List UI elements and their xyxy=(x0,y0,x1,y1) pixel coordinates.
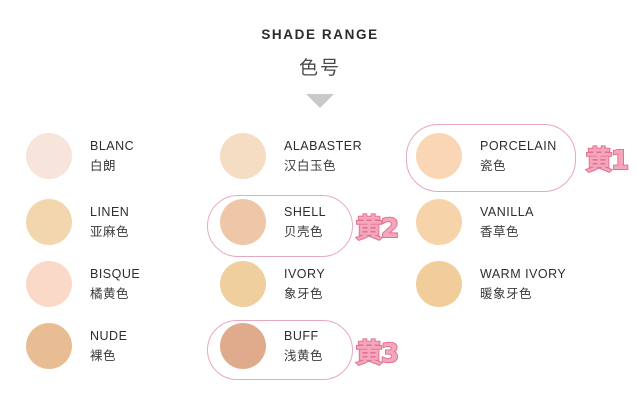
shade-labels: ALABASTER 汉白玉色 xyxy=(284,138,362,174)
shade-column-3: PORCELAIN 瓷色 VANILLA 香草色 WARM IVORY 暖象牙色 xyxy=(404,122,604,382)
shade-labels: WARM IVORY 暖象牙色 xyxy=(480,266,566,302)
shade-name-zh: 瓷色 xyxy=(480,158,557,175)
shade-name-en: WARM IVORY xyxy=(480,266,566,283)
shade-item-linen[interactable]: LINEN 亚麻色 xyxy=(14,194,196,250)
shade-swatch xyxy=(416,261,462,307)
shade-name-en: LINEN xyxy=(90,204,129,221)
shade-name-zh: 香草色 xyxy=(480,224,534,241)
shade-name-en: IVORY xyxy=(284,266,325,283)
shade-item-vanilla[interactable]: VANILLA 香草色 xyxy=(404,194,586,250)
shade-name-en: ALABASTER xyxy=(284,138,362,155)
shade-swatch xyxy=(220,323,266,369)
shade-item-warm-ivory[interactable]: WARM IVORY 暖象牙色 xyxy=(404,256,586,312)
shade-name-zh: 汉白玉色 xyxy=(284,158,362,175)
shade-swatch xyxy=(26,133,72,179)
shade-grid: BLANC 白朗 LINEN 亚麻色 BISQUE 橘黄色 NUDE 裸色 xyxy=(0,122,640,382)
shade-name-zh: 浅黄色 xyxy=(284,348,323,365)
shade-name-zh: 贝壳色 xyxy=(284,224,326,241)
shade-name-en: BLANC xyxy=(90,138,134,155)
triangle-down-icon xyxy=(306,94,334,108)
page-title: SHADE RANGE xyxy=(0,27,640,42)
shade-labels: BISQUE 橘黄色 xyxy=(90,266,140,302)
shade-labels: VANILLA 香草色 xyxy=(480,204,534,240)
shade-name-zh: 橘黄色 xyxy=(90,286,140,303)
shade-name-en: SHELL xyxy=(284,204,326,221)
shade-name-en: BUFF xyxy=(284,328,323,345)
shade-item-porcelain[interactable]: PORCELAIN 瓷色 xyxy=(404,128,586,184)
page-subtitle: 色号 xyxy=(0,53,640,80)
shade-labels: BUFF 浅黄色 xyxy=(284,328,323,364)
shade-name-zh: 象牙色 xyxy=(284,286,325,303)
shade-labels: PORCELAIN 瓷色 xyxy=(480,138,557,174)
shade-swatch xyxy=(220,133,266,179)
shade-swatch xyxy=(26,199,72,245)
shade-labels: IVORY 象牙色 xyxy=(284,266,325,302)
shade-swatch xyxy=(220,199,266,245)
shade-labels: SHELL 贝壳色 xyxy=(284,204,326,240)
shade-labels: BLANC 白朗 xyxy=(90,138,134,174)
shade-item-bisque[interactable]: BISQUE 橘黄色 xyxy=(14,256,196,312)
shade-name-zh: 暖象牙色 xyxy=(480,286,566,303)
shade-item-nude[interactable]: NUDE 裸色 xyxy=(14,318,196,374)
shade-name-en: BISQUE xyxy=(90,266,140,283)
shade-name-en: PORCELAIN xyxy=(480,138,557,155)
shade-swatch xyxy=(416,133,462,179)
shade-name-zh: 亚麻色 xyxy=(90,224,129,241)
stamp-label-huang1: 黄1 xyxy=(586,140,628,177)
shade-swatch xyxy=(416,199,462,245)
shade-column-1: BLANC 白朗 LINEN 亚麻色 BISQUE 橘黄色 NUDE 裸色 xyxy=(14,122,214,382)
shade-name-en: VANILLA xyxy=(480,204,534,221)
shade-item-blanc[interactable]: BLANC 白朗 xyxy=(14,128,196,184)
shade-labels: NUDE 裸色 xyxy=(90,328,127,364)
shade-item-alabaster[interactable]: ALABASTER 汉白玉色 xyxy=(208,128,390,184)
shade-swatch xyxy=(26,261,72,307)
shade-swatch xyxy=(26,323,72,369)
stamp-label-huang2: 黄2 xyxy=(356,208,398,245)
shade-name-en: NUDE xyxy=(90,328,127,345)
page-header: SHADE RANGE 色号 xyxy=(0,0,640,108)
shade-item-ivory[interactable]: IVORY 象牙色 xyxy=(208,256,390,312)
stamp-label-huang3: 黄3 xyxy=(356,333,398,370)
shade-name-zh: 白朗 xyxy=(90,158,134,175)
shade-labels: LINEN 亚麻色 xyxy=(90,204,129,240)
shade-name-zh: 裸色 xyxy=(90,348,127,365)
shade-swatch xyxy=(220,261,266,307)
